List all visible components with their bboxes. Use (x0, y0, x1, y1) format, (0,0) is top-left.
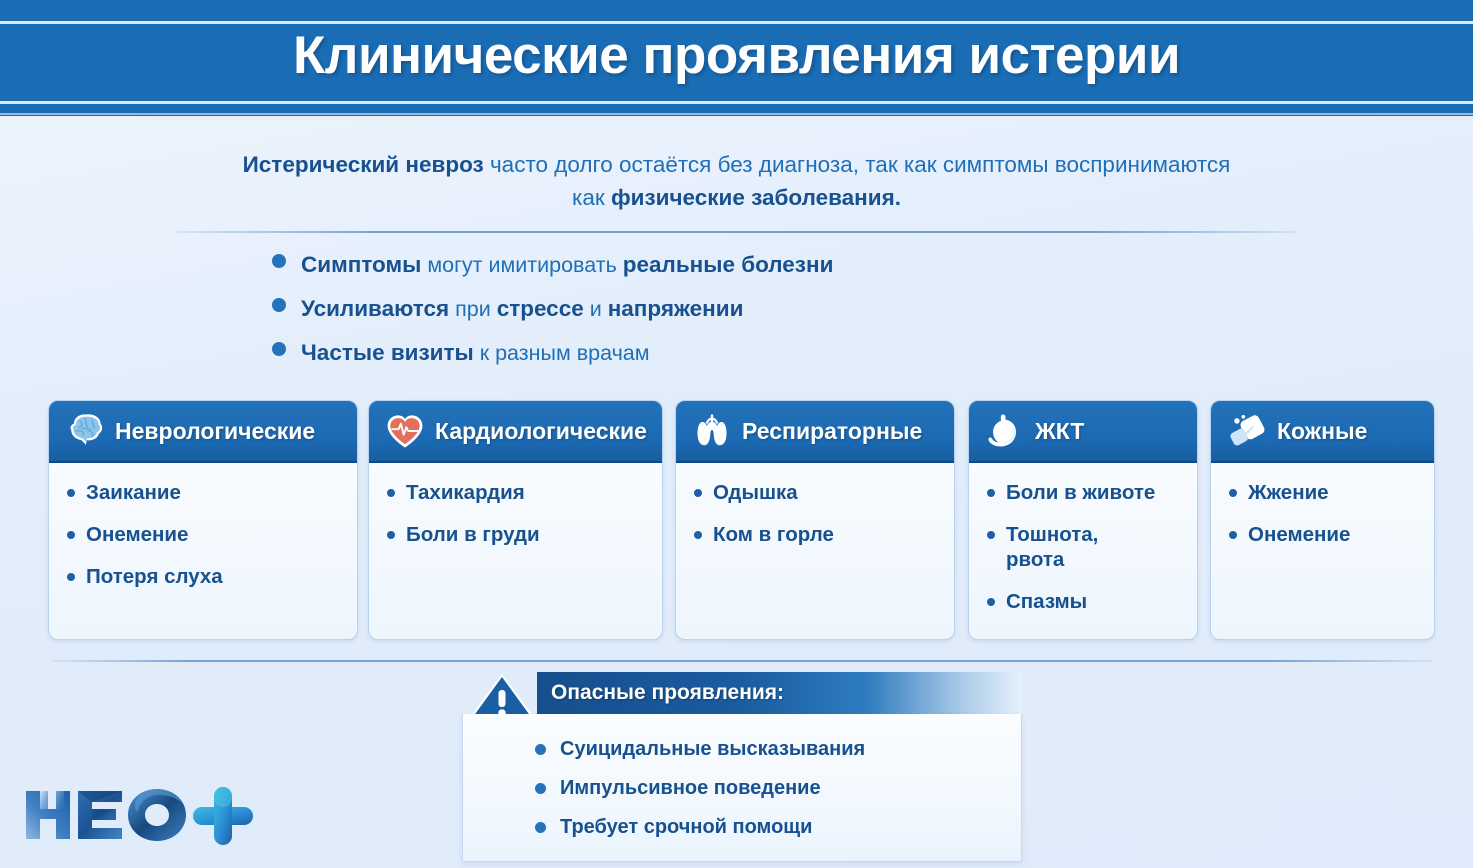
intro-bold-phrase: физические заболевания. (611, 185, 901, 210)
bullet-dot-icon (694, 489, 702, 497)
card-title: Неврологические (115, 418, 315, 445)
danger-callout-header: Опасные проявления: (537, 672, 1022, 714)
card-body: Тахикардия Боли в груди (369, 463, 662, 574)
point-text: Усиливаются при стрессе и напряжении (301, 296, 743, 322)
bullet-dot-icon (987, 489, 995, 497)
point-text: Симптомы могут имитировать реальные боле… (301, 252, 833, 278)
bullet-dot-icon (694, 531, 702, 539)
intro-paragraph: Истерический невроз часто долго остаётся… (170, 148, 1303, 214)
bullet-dot-icon (387, 489, 395, 497)
lungs-icon (690, 410, 734, 452)
list-item: Симптомы могут имитировать реальные боле… (272, 252, 833, 296)
list-item: Жжение (1225, 480, 1424, 505)
card-body: Жжение Онемение (1211, 463, 1434, 574)
list-item: Импульсивное поведение (535, 769, 1009, 808)
brain-icon (63, 410, 107, 452)
list-item: Боли в груди (383, 522, 652, 547)
bullet-dot-icon (987, 531, 995, 539)
bullet-dot-icon (67, 573, 75, 581)
danger-callout-body: Суицидальные высказывания Импульсивное п… (462, 714, 1022, 862)
card-title: Кардиологические (435, 418, 647, 445)
card-body: Боли в животе Тошнота, рвота Спазмы (969, 463, 1197, 640)
list-item: Спазмы (983, 589, 1187, 614)
bullet-dot-icon (387, 531, 395, 539)
bullet-dot-icon (272, 342, 286, 356)
list-item: Онемение (1225, 522, 1424, 547)
card-dermatological[interactable]: Кожные Жжение Онемение (1210, 400, 1435, 640)
card-body: Одышка Ком в горле (676, 463, 954, 574)
intro-line2-pre: как (572, 185, 611, 210)
card-title: Кожные (1277, 418, 1367, 445)
intro-line1-rest: часто долго остаётся без диагноза, так к… (484, 152, 1231, 177)
bullet-dot-icon (67, 531, 75, 539)
list-item: Ком в горле (690, 522, 944, 547)
list-item: Боли в животе (983, 480, 1187, 505)
header-rule-bottom (0, 101, 1473, 104)
card-gastrointestinal[interactable]: ЖКТ Боли в животе Тошнота, рвота Спазмы (968, 400, 1198, 640)
bullet-dot-icon (535, 783, 546, 794)
list-item: Суицидальные высказывания (535, 730, 1009, 769)
list-item: Тошнота, рвота (983, 522, 1187, 572)
bullet-dot-icon (987, 598, 995, 606)
card-title: ЖКТ (1035, 418, 1084, 445)
card-body: Заикание Онемение Потеря слуха (49, 463, 357, 616)
card-header: Кожные (1211, 401, 1434, 463)
page-header: Клинические проявления истерии (0, 0, 1473, 106)
bullet-dot-icon (1229, 531, 1237, 539)
bullet-dot-icon (535, 822, 546, 833)
list-item: Требует срочной помощи (535, 808, 1009, 847)
heart-pulse-icon (383, 410, 427, 452)
neo-plus-logo (18, 783, 258, 845)
point-text: Частые визиты к разным врачам (301, 340, 650, 366)
card-neurological[interactable]: Неврологические Заикание Онемение Потеря… (48, 400, 358, 640)
card-respiratory[interactable]: Респираторные Одышка Ком в горле (675, 400, 955, 640)
bullet-dot-icon (272, 254, 286, 268)
list-item: Онемение (63, 522, 347, 547)
key-points-list: Симптомы могут имитировать реальные боле… (272, 252, 833, 384)
page-title: Клинические проявления истерии (0, 25, 1473, 86)
card-header: Неврологические (49, 401, 357, 463)
list-item: Усиливаются при стрессе и напряжении (272, 296, 833, 340)
section-divider (52, 660, 1433, 662)
intro-divider (176, 231, 1297, 233)
stomach-icon (983, 410, 1027, 452)
list-item: Заикание (63, 480, 347, 505)
list-item: Потеря слуха (63, 564, 347, 589)
bullet-dot-icon (67, 489, 75, 497)
danger-callout: Опасные проявления: Суицидальные высказы… (462, 672, 1022, 862)
list-item: Тахикардия (383, 480, 652, 505)
card-cardiological[interactable]: Кардиологические Тахикардия Боли в груди (368, 400, 663, 640)
card-header: Кардиологические (369, 401, 662, 463)
header-rule-top (0, 21, 1473, 24)
bullet-dot-icon (535, 744, 546, 755)
list-item: Одышка (690, 480, 944, 505)
bullet-dot-icon (272, 298, 286, 312)
bullet-dot-icon (1229, 489, 1237, 497)
danger-callout-title: Опасные проявления: (551, 681, 784, 705)
card-header: ЖКТ (969, 401, 1197, 463)
list-item: Частые визиты к разным врачам (272, 340, 833, 384)
intro-bold-term: Истерический невроз (243, 152, 484, 177)
skin-patch-icon (1225, 410, 1269, 452)
header-accent-line (0, 113, 1473, 115)
card-title: Респираторные (742, 418, 922, 445)
card-header: Респираторные (676, 401, 954, 463)
